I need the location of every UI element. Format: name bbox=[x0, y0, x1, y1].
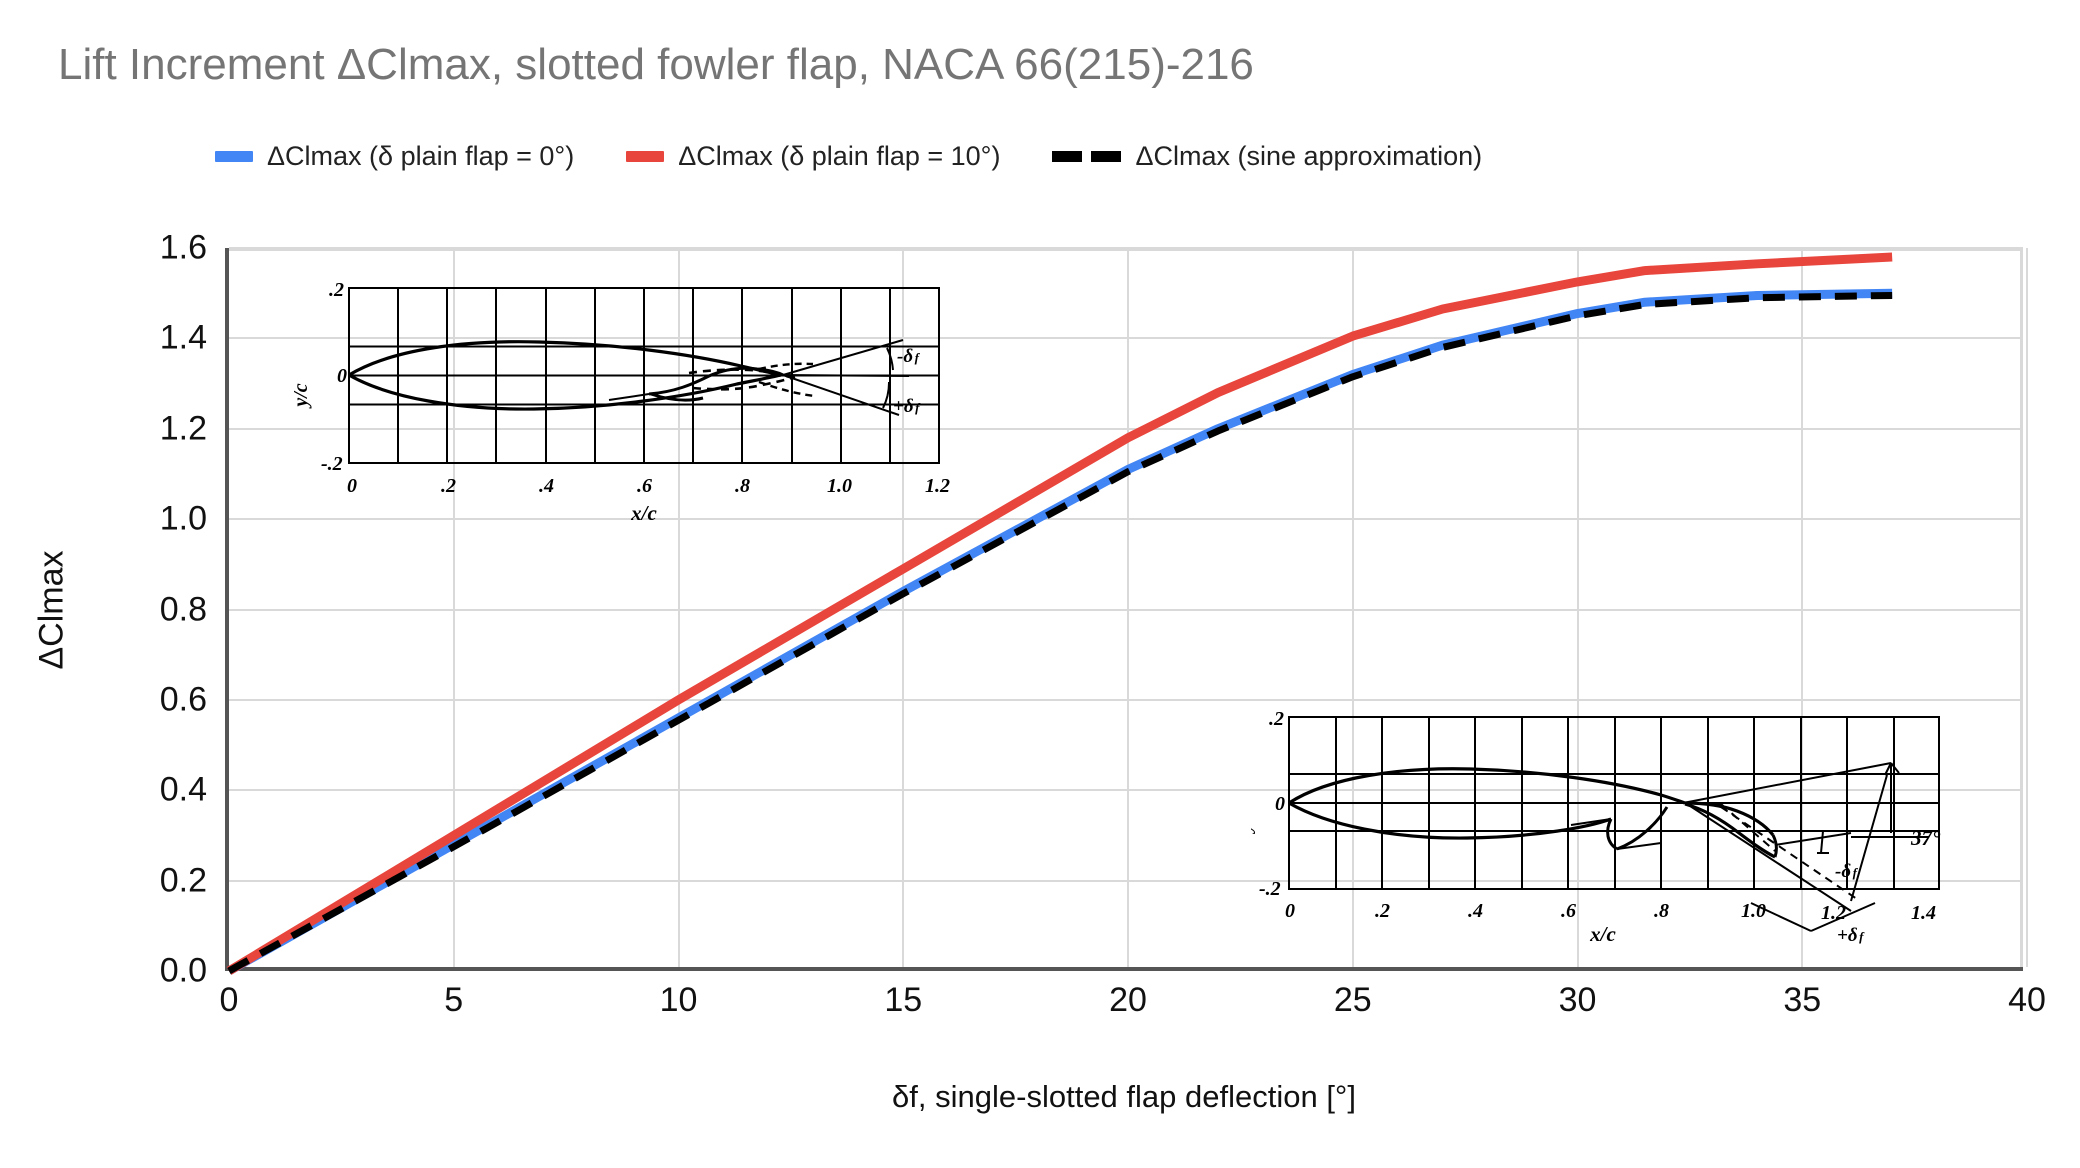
svg-text:0: 0 bbox=[337, 365, 347, 387]
svg-text:-δ f: -δ f bbox=[1835, 861, 1859, 882]
x-axis-tick-label: 10 bbox=[660, 981, 698, 1020]
svg-text:-.2: -.2 bbox=[1259, 878, 1281, 900]
x-axis-tick-label: 40 bbox=[2008, 981, 2046, 1020]
chart-page: Lift Increment ΔClmax, slotted fowler fl… bbox=[0, 0, 2080, 1168]
inset-slotted-flap-figure: .2 0 -.2 y/c 0 .2 .4 .6 .8 1.0 1.2 x/c -… bbox=[289, 270, 961, 538]
legend-label-plain-flap-0: ΔClmax (δ plain flap = 0°) bbox=[267, 143, 574, 170]
svg-text:y/c: y/c bbox=[290, 383, 312, 408]
x-axis-tick-label: 30 bbox=[1559, 981, 1597, 1020]
svg-text:+δ f: +δ f bbox=[1837, 925, 1865, 946]
y-axis-tick-label: 0.0 bbox=[160, 952, 207, 991]
svg-text:.2: .2 bbox=[1375, 900, 1390, 922]
inset-fowler-flap-figure: .2 0 -.2 y/c 0 .2 .4 .6 .8 1.0 1.2 1.4 x… bbox=[1251, 703, 1991, 975]
y-axis-tick-label: 1.6 bbox=[160, 229, 207, 268]
x-axis-tick-label: 15 bbox=[884, 981, 922, 1020]
y-axis-tick-label: 1.2 bbox=[160, 409, 207, 448]
svg-text:37°: 37° bbox=[1910, 826, 1941, 850]
legend-item-sine-approximation[interactable]: ΔClmax (sine approximation) bbox=[1052, 143, 1482, 170]
svg-text:.2: .2 bbox=[1269, 708, 1284, 730]
x-axis-tick-label: 35 bbox=[1783, 981, 1821, 1020]
y-axis-tick-label: 0.6 bbox=[160, 680, 207, 719]
y-axis-tick-label: 1.0 bbox=[160, 500, 207, 539]
y-axis-tick-label: 1.4 bbox=[160, 319, 207, 358]
chart-legend: ΔClmax (δ plain flap = 0°) ΔClmax (δ pla… bbox=[215, 143, 1482, 170]
svg-text:y/c: y/c bbox=[1251, 809, 1256, 834]
legend-swatch-blue bbox=[215, 151, 253, 162]
y-axis-title: ΔClmax bbox=[33, 550, 72, 669]
x-axis-tick-label: 25 bbox=[1334, 981, 1372, 1020]
x-axis-tick-label: 20 bbox=[1109, 981, 1147, 1020]
svg-text:1.2: 1.2 bbox=[1821, 902, 1846, 924]
svg-text:.6: .6 bbox=[637, 475, 652, 497]
page-title: Lift Increment ΔClmax, slotted fowler fl… bbox=[58, 40, 1254, 90]
svg-text:.2: .2 bbox=[329, 279, 344, 301]
svg-text:+δ f: +δ f bbox=[893, 396, 921, 417]
svg-text:.8: .8 bbox=[735, 475, 750, 497]
svg-text:-δ f: -δ f bbox=[897, 346, 921, 367]
svg-text:.6: .6 bbox=[1561, 900, 1576, 922]
legend-item-plain-flap-0[interactable]: ΔClmax (δ plain flap = 0°) bbox=[215, 143, 574, 170]
svg-text:1.0: 1.0 bbox=[827, 475, 852, 497]
svg-text:x/c: x/c bbox=[1589, 922, 1616, 946]
airfoil-slotted-diagram: .2 0 -.2 y/c 0 .2 .4 .6 .8 1.0 1.2 x/c -… bbox=[289, 270, 961, 538]
legend-swatch-black-dashed bbox=[1052, 151, 1121, 162]
y-axis-tick-label: 0.4 bbox=[160, 771, 207, 810]
svg-text:0: 0 bbox=[347, 475, 357, 497]
svg-text:.8: .8 bbox=[1654, 900, 1669, 922]
svg-text:.2: .2 bbox=[441, 475, 456, 497]
svg-text:-.2: -.2 bbox=[321, 453, 343, 475]
svg-text:.4: .4 bbox=[539, 475, 554, 497]
svg-text:0: 0 bbox=[1275, 793, 1285, 815]
svg-text:.4: .4 bbox=[1468, 900, 1483, 922]
x-axis-title: δf, single-slotted flap deflection [°] bbox=[892, 1079, 1356, 1115]
legend-swatch-red bbox=[626, 151, 664, 162]
svg-text:0: 0 bbox=[1285, 900, 1295, 922]
legend-label-sine-approximation: ΔClmax (sine approximation) bbox=[1135, 143, 1482, 170]
x-axis-tick-label: 0 bbox=[220, 981, 239, 1020]
svg-text:1.2: 1.2 bbox=[925, 475, 950, 497]
legend-label-plain-flap-10: ΔClmax (δ plain flap = 10°) bbox=[678, 143, 1000, 170]
airfoil-fowler-diagram: .2 0 -.2 y/c 0 .2 .4 .6 .8 1.0 1.2 1.4 x… bbox=[1251, 703, 1991, 975]
svg-text:1.0: 1.0 bbox=[1741, 900, 1766, 922]
y-axis-tick-label: 0.8 bbox=[160, 590, 207, 629]
y-axis-tick-label: 0.2 bbox=[160, 861, 207, 900]
x-axis-tick-label: 5 bbox=[444, 981, 463, 1020]
svg-text:x/c: x/c bbox=[630, 501, 657, 525]
legend-item-plain-flap-10[interactable]: ΔClmax (δ plain flap = 10°) bbox=[626, 143, 1000, 170]
svg-text:1.4: 1.4 bbox=[1911, 902, 1936, 924]
plot-area: 0.00.20.40.60.81.01.21.41.6 051015202530… bbox=[225, 248, 2023, 971]
